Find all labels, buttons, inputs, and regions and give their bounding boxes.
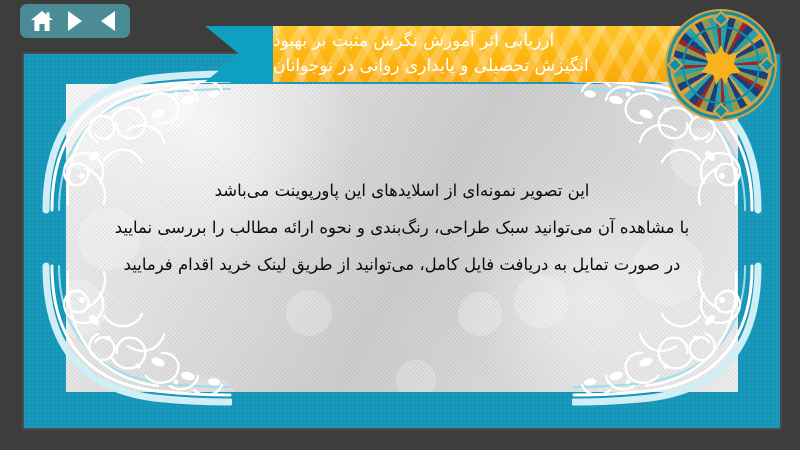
bokeh-circle	[396, 360, 436, 392]
persian-medallion-ornament	[673, 17, 769, 113]
back-button[interactable]	[95, 8, 121, 34]
body-line-3: در صورت تمایل به دریافت فایل کامل، می‌تو…	[124, 246, 681, 283]
triangle-right-icon	[68, 11, 82, 31]
slide-body-text: این تصویر نمونه‌ای از اسلایدهای این پاور…	[24, 172, 780, 283]
body-line-2: با مشاهده آن می‌توانید سبک طراحی، رنگ‌بن…	[115, 209, 690, 246]
body-line-1: این تصویر نمونه‌ای از اسلایدهای این پاور…	[215, 172, 590, 209]
home-button[interactable]	[29, 8, 55, 34]
bokeh-circle	[458, 292, 502, 336]
triangle-left-icon	[101, 11, 115, 31]
bokeh-circle	[124, 84, 198, 132]
slide-frame: این تصویر نمونه‌ای از اسلایدهای این پاور…	[24, 54, 780, 428]
bokeh-circle	[186, 376, 236, 392]
bokeh-circle	[66, 280, 106, 338]
bokeh-circle	[286, 290, 332, 336]
forward-button[interactable]	[62, 8, 88, 34]
title-line-2: انگیزش تحصیلی و پایداری روانی در نوجوانا…	[273, 54, 589, 79]
home-icon	[30, 10, 54, 32]
bokeh-circle	[66, 84, 132, 170]
medallion-nub	[713, 11, 730, 28]
banner-body: ارزیابی اثر آموزش نگرش مثبت بر بهبود انگ…	[273, 26, 705, 82]
navigation-toolbar	[20, 4, 130, 38]
slide-canvas: این تصویر نمونه‌ای از اسلایدهای این پاور…	[0, 0, 800, 450]
title-banner: ارزیابی اثر آموزش نگرش مثبت بر بهبود انگ…	[205, 26, 705, 82]
title-line-1: ارزیابی اثر آموزش نگرش مثبت بر بهبود	[273, 29, 554, 54]
